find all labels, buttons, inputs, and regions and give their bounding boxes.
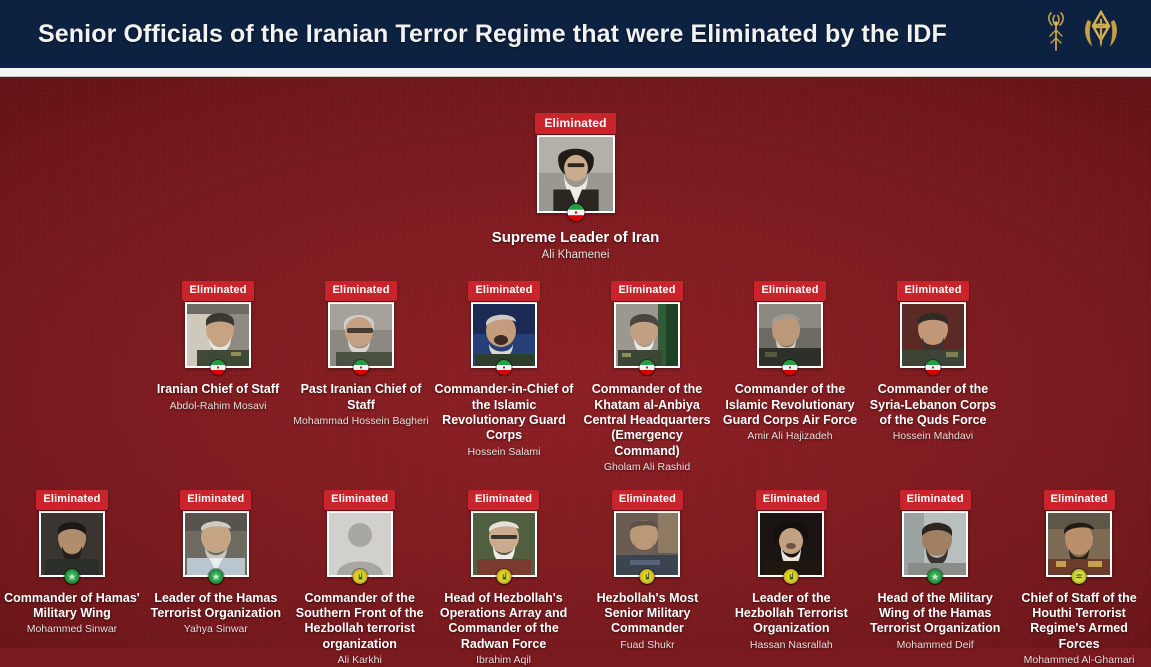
official-card[interactable]: Eliminated [862, 281, 1005, 473]
portrait-photo [539, 137, 613, 211]
portrait-frame [328, 302, 394, 368]
official-card[interactable]: Eliminated [144, 490, 288, 667]
row-supreme-leader: Eliminated [0, 77, 1151, 263]
official-title: Leader of the Hamas Terrorist Organizati… [144, 591, 288, 622]
portrait-photo [185, 513, 247, 575]
official-name: Mohammad Hossein Bagheri [292, 415, 429, 428]
portrait-frame [39, 511, 105, 577]
official-card[interactable]: Eliminated [290, 281, 433, 473]
official-title: Commander of the Southern Front of the H… [288, 591, 432, 653]
official-card[interactable]: Eliminated [576, 490, 720, 667]
portrait-frame [183, 511, 249, 577]
hamas-emblem-badge-icon [64, 569, 79, 584]
portrait-frame [758, 511, 824, 577]
official-card[interactable]: Eliminated [288, 490, 432, 667]
official-card[interactable]: Eliminated [1007, 490, 1151, 667]
hezbollah-emblem-badge-icon [496, 569, 511, 584]
official-title: Iranian Chief of Staff [155, 382, 281, 397]
idf-spokesperson-broadcast-emblem [1041, 12, 1071, 57]
iran-flag-badge-icon [567, 204, 584, 221]
status-badge: Eliminated [756, 490, 827, 510]
status-badge: Eliminated [897, 281, 968, 301]
official-title: Commander-in-Chief of the Islamic Revolu… [433, 382, 576, 444]
portrait-photo [473, 304, 535, 366]
status-badge: Eliminated [1044, 490, 1115, 510]
portrait-frame [185, 302, 251, 368]
official-name: Gholam Ali Rashid [603, 461, 691, 474]
portrait-photo [41, 513, 103, 575]
portrait-photo [904, 513, 966, 575]
officials-board: Eliminated [0, 77, 1151, 648]
iran-flag-badge-icon [783, 360, 798, 375]
official-name: Ali Karkhi [337, 654, 383, 667]
status-badge: Eliminated [325, 281, 396, 301]
portrait-photo [760, 513, 822, 575]
header-divider [0, 68, 1151, 77]
portrait-frame [902, 511, 968, 577]
page-header: Senior Officials of the Iranian Terror R… [0, 0, 1151, 68]
portrait-photo [330, 304, 392, 366]
official-card[interactable]: Eliminated [576, 281, 719, 473]
hezbollah-emblem-badge-icon [784, 569, 799, 584]
official-card[interactable]: Eliminated [433, 281, 576, 473]
official-title: Commander of Hamas' Military Wing [0, 591, 144, 622]
official-card[interactable]: Eliminated [719, 490, 863, 667]
portrait-placeholder-silhouette [329, 513, 391, 575]
portrait-photo [616, 513, 678, 575]
official-name: Mohammed Al-Ghamari [1023, 654, 1136, 667]
official-card[interactable]: Eliminated [486, 113, 666, 263]
hezbollah-emblem-badge-icon [640, 569, 655, 584]
official-title: Head of Hezbollah's Operations Array and… [432, 591, 576, 653]
officials-rows: Eliminated [0, 77, 1151, 667]
official-name: Hossein Salami [467, 446, 542, 459]
row-proxy-commanders: Eliminated [0, 490, 1151, 667]
idf-insignia-emblem [1081, 10, 1121, 59]
official-card[interactable]: Eliminated [719, 281, 862, 473]
official-title: Supreme Leader of Iran [490, 229, 662, 247]
status-badge: Eliminated [182, 281, 253, 301]
hamas-emblem-badge-icon [208, 569, 223, 584]
portrait-frame [1046, 511, 1112, 577]
portrait-photo [902, 304, 964, 366]
portrait-photo [473, 513, 535, 575]
iran-flag-badge-icon [497, 360, 512, 375]
official-title: Commander of the Islamic Revolutionary G… [719, 382, 862, 428]
portrait-frame [900, 302, 966, 368]
official-name: Hossein Mahdavi [892, 430, 975, 443]
iran-flag-badge-icon [354, 360, 369, 375]
status-badge: Eliminated [36, 490, 107, 510]
official-name: Fuad Shukr [619, 639, 675, 652]
status-badge: Eliminated [900, 490, 971, 510]
hezbollah-emblem-badge-icon [352, 569, 367, 584]
official-title: Head of the Military Wing of the Hamas T… [863, 591, 1007, 637]
portrait-frame [327, 511, 393, 577]
official-name: Yahya Sinwar [183, 623, 249, 636]
official-card[interactable]: Eliminated [147, 281, 290, 473]
status-badge: Eliminated [324, 490, 395, 510]
official-name: Mohammed Sinwar [26, 623, 118, 636]
hamas-emblem-badge-icon [928, 569, 943, 584]
official-name: Ali Khamenei [541, 249, 611, 263]
iran-flag-badge-icon [926, 360, 941, 375]
portrait-frame [537, 135, 615, 213]
official-title: Past Iranian Chief of Staff [290, 382, 433, 413]
official-title: Commander of the Syria-Lebanon Corps of … [862, 382, 1005, 428]
portrait-frame [757, 302, 823, 368]
status-badge: Eliminated [180, 490, 251, 510]
status-badge: Eliminated [754, 281, 825, 301]
portrait-frame [471, 302, 537, 368]
iran-flag-badge-icon [640, 360, 655, 375]
status-badge: Eliminated [611, 281, 682, 301]
portrait-photo [616, 304, 678, 366]
portrait-frame [614, 302, 680, 368]
official-title: Leader of the Hezbollah Terrorist Organi… [719, 591, 863, 637]
official-card[interactable]: Eliminated [432, 490, 576, 667]
status-badge: Eliminated [612, 490, 683, 510]
official-name: Ibrahim Aqil [475, 654, 532, 667]
status-badge: Eliminated [535, 113, 615, 134]
portrait-frame [471, 511, 537, 577]
page-title: Senior Officials of the Iranian Terror R… [38, 20, 1041, 49]
portrait-frame [614, 511, 680, 577]
official-name: Amir Ali Hajizadeh [746, 430, 833, 443]
official-name: Abdol-Rahim Mosavi [169, 400, 268, 413]
official-title: Commander of the Khatam al-Anbiya Centra… [576, 382, 719, 459]
portrait-photo [759, 304, 821, 366]
houthi-emblem-badge-icon [1072, 569, 1087, 584]
portrait-photo [187, 304, 249, 366]
row-iranian-commanders: Eliminated [0, 281, 1151, 473]
header-emblems [1041, 10, 1129, 59]
official-card[interactable]: Eliminated [0, 490, 144, 667]
official-name: Mohammed Deif [896, 639, 975, 652]
official-name: Hassan Nasrallah [749, 639, 834, 652]
portrait-photo [1048, 513, 1110, 575]
status-badge: Eliminated [468, 490, 539, 510]
official-card[interactable]: Eliminated [863, 490, 1007, 667]
iran-flag-badge-icon [211, 360, 226, 375]
official-title: Chief of Staff of the Houthi Terrorist R… [1007, 591, 1151, 653]
official-title: Hezbollah's Most Senior Military Command… [576, 591, 720, 637]
status-badge: Eliminated [468, 281, 539, 301]
